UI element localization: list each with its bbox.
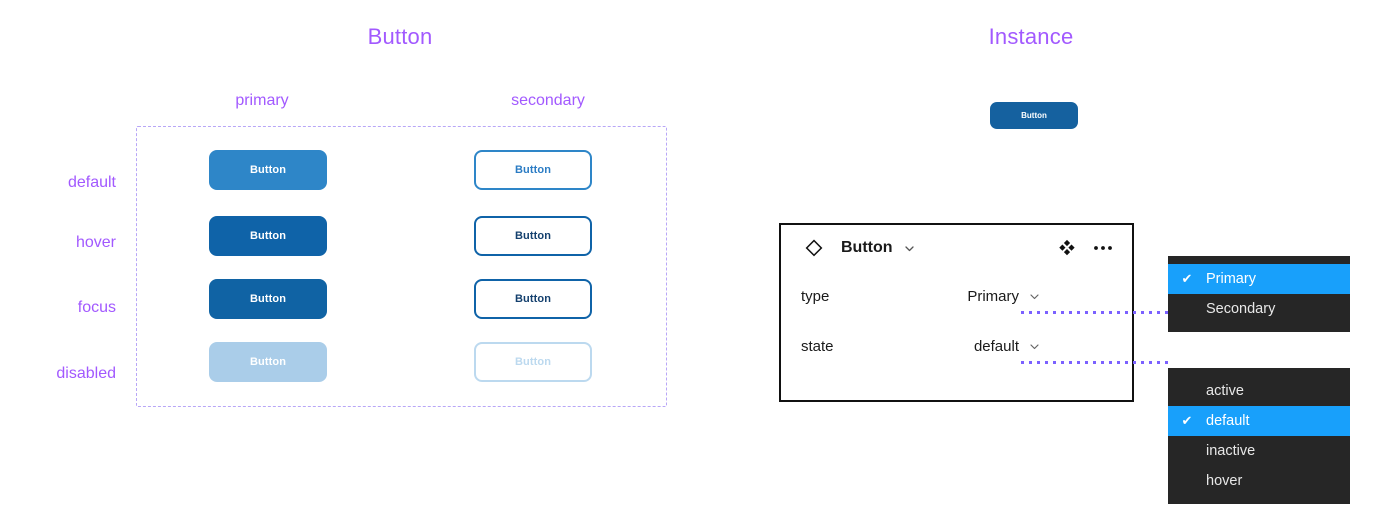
button-primary-focus[interactable]: Button	[209, 279, 327, 319]
menu-item-active[interactable]: ✔ active	[1168, 376, 1350, 406]
button-primary-hover[interactable]: Button	[209, 216, 327, 256]
row-header-default: default	[0, 174, 116, 192]
menu-item-primary[interactable]: ✔ Primary	[1168, 264, 1350, 294]
property-value-state[interactable]: default	[937, 338, 1019, 355]
menu-item-hover[interactable]: ✔ hover	[1168, 466, 1350, 496]
component-section-title: Button	[300, 24, 500, 50]
button-secondary-default[interactable]: Button	[474, 150, 592, 190]
column-header-secondary: secondary	[473, 92, 623, 110]
menu-item-label: Secondary	[1206, 301, 1350, 317]
button-secondary-focus[interactable]: Button	[474, 279, 592, 319]
row-header-disabled: disabled	[0, 365, 116, 383]
property-name-type: type	[801, 288, 937, 305]
column-header-primary: primary	[202, 92, 322, 110]
instance-section-title: Instance	[931, 24, 1131, 50]
check-icon: ✔	[1168, 271, 1206, 287]
row-header-hover: hover	[0, 234, 116, 252]
type-menu[interactable]: ✔ Primary ✔ Secondary	[1168, 256, 1350, 332]
button-secondary-hover[interactable]: Button	[474, 216, 592, 256]
swap-instance-icon[interactable]	[1054, 235, 1080, 261]
button-secondary-disabled: Button	[474, 342, 592, 382]
property-value-type[interactable]: Primary	[937, 288, 1019, 305]
state-menu[interactable]: ✔ active ✔ default ✔ inactive ✔ hover	[1168, 368, 1350, 504]
panel-component-name: Button	[841, 239, 893, 257]
connector-type-to-menu	[1021, 311, 1168, 314]
connector-state-to-menu	[1021, 361, 1168, 364]
chevron-down-icon[interactable]	[1028, 290, 1041, 303]
button-primary-default[interactable]: Button	[209, 150, 327, 190]
more-options-icon[interactable]	[1090, 235, 1116, 261]
menu-item-label: Primary	[1206, 271, 1350, 287]
button-primary-disabled: Button	[209, 342, 327, 382]
instance-preview-button[interactable]: Button	[990, 102, 1078, 129]
property-name-state: state	[801, 338, 937, 355]
menu-item-label: inactive	[1206, 443, 1350, 459]
row-header-focus: focus	[0, 299, 116, 317]
menu-item-secondary[interactable]: ✔ Secondary	[1168, 294, 1350, 324]
chevron-down-icon[interactable]	[1028, 340, 1041, 353]
menu-item-default[interactable]: ✔ default	[1168, 406, 1350, 436]
menu-item-label: default	[1206, 413, 1350, 429]
diamond-component-icon	[801, 235, 827, 261]
menu-item-label: active	[1206, 383, 1350, 399]
chevron-down-icon[interactable]	[897, 235, 923, 261]
check-icon: ✔	[1168, 413, 1206, 429]
panel-header: Button	[781, 225, 1132, 271]
menu-item-label: hover	[1206, 473, 1350, 489]
menu-item-inactive[interactable]: ✔ inactive	[1168, 436, 1350, 466]
